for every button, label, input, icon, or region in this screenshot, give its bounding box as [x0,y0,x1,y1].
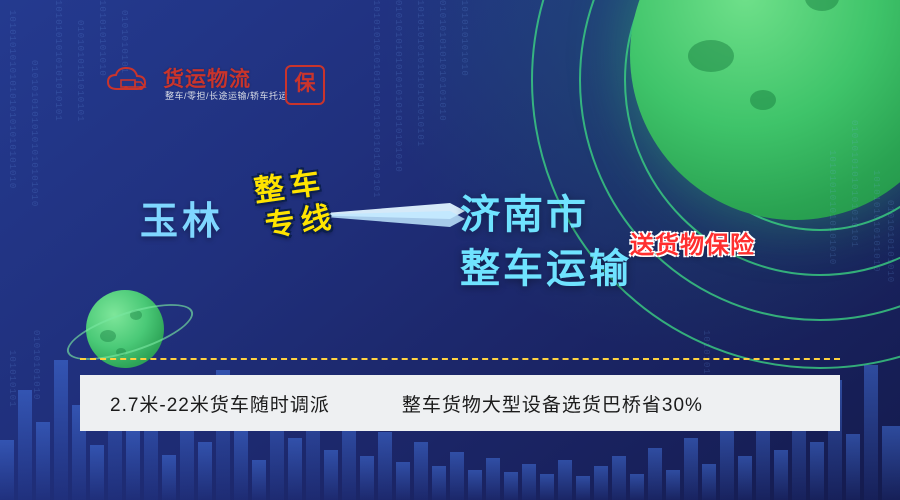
destination-line2: 整车运输 [460,242,632,296]
dashed-divider [80,358,840,360]
info-bar: 2.7米-22米货车随时调派 整车货物大型设备选货巴桥省30% [80,375,840,431]
poster-canvas: 1010101010101010101010101010 01010101010… [0,0,900,500]
binary-strip: 0101010101010101 [74,20,85,210]
cloud-truck-icon [103,67,169,97]
info-bar-left-text: 2.7米-22米货车随时调派 [110,390,330,417]
binary-strip: 010101010101010101010101010 [392,0,403,300]
binary-strip: 01010101010101010101010 [28,60,39,320]
insurance-promo-text: 送货物保险 [630,225,755,260]
origin-city: 玉林 [140,190,224,245]
destination-line1: 济南市 [460,188,632,242]
binary-strip: 1010101010101010101 [52,0,63,220]
brand-logo[interactable]: 货运物流 整车/零担/长途运输/轿车托运 保 [103,63,333,111]
info-bar-right-text: 整车货物大型设备选货巴桥省30% [402,390,703,417]
destination-city: 济南市 整车运输 [460,188,632,296]
service-badge: 整车 专线 [252,162,356,266]
binary-strip: 1010101010101010101010101010101 [370,0,381,330]
insurance-badge-icon: 保 [285,65,325,105]
brand-tagline: 整车/零担/长途运输/轿车托运 [165,89,288,102]
binary-strip: 1010101010101010101010101010 [6,10,17,310]
